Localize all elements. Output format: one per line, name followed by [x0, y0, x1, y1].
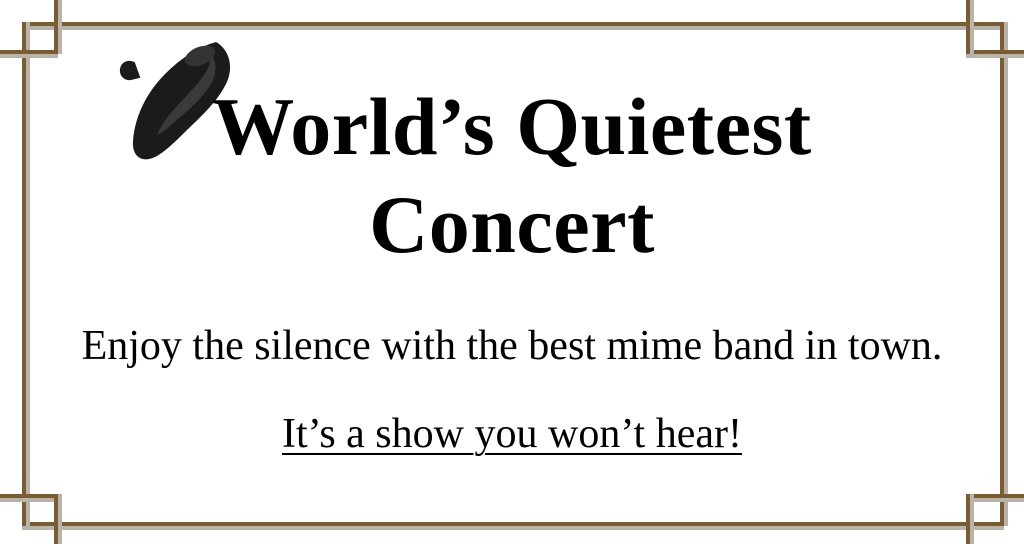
tagline-underlined-text: It’s a show you won’t hear!: [282, 411, 742, 457]
poster-subtitle: Enjoy the silence with the best mime ban…: [0, 320, 1024, 372]
page-title: World’s Quietest Concert: [0, 78, 1024, 274]
title-line-2: Concert: [0, 176, 1024, 274]
poster-tagline: It’s a show you won’t hear!: [0, 408, 1024, 460]
poster-content: World’s Quietest Concert Enjoy the silen…: [0, 0, 1024, 544]
poster-canvas: World’s Quietest Concert Enjoy the silen…: [0, 0, 1024, 544]
title-line-1: World’s Quietest: [0, 78, 1024, 176]
